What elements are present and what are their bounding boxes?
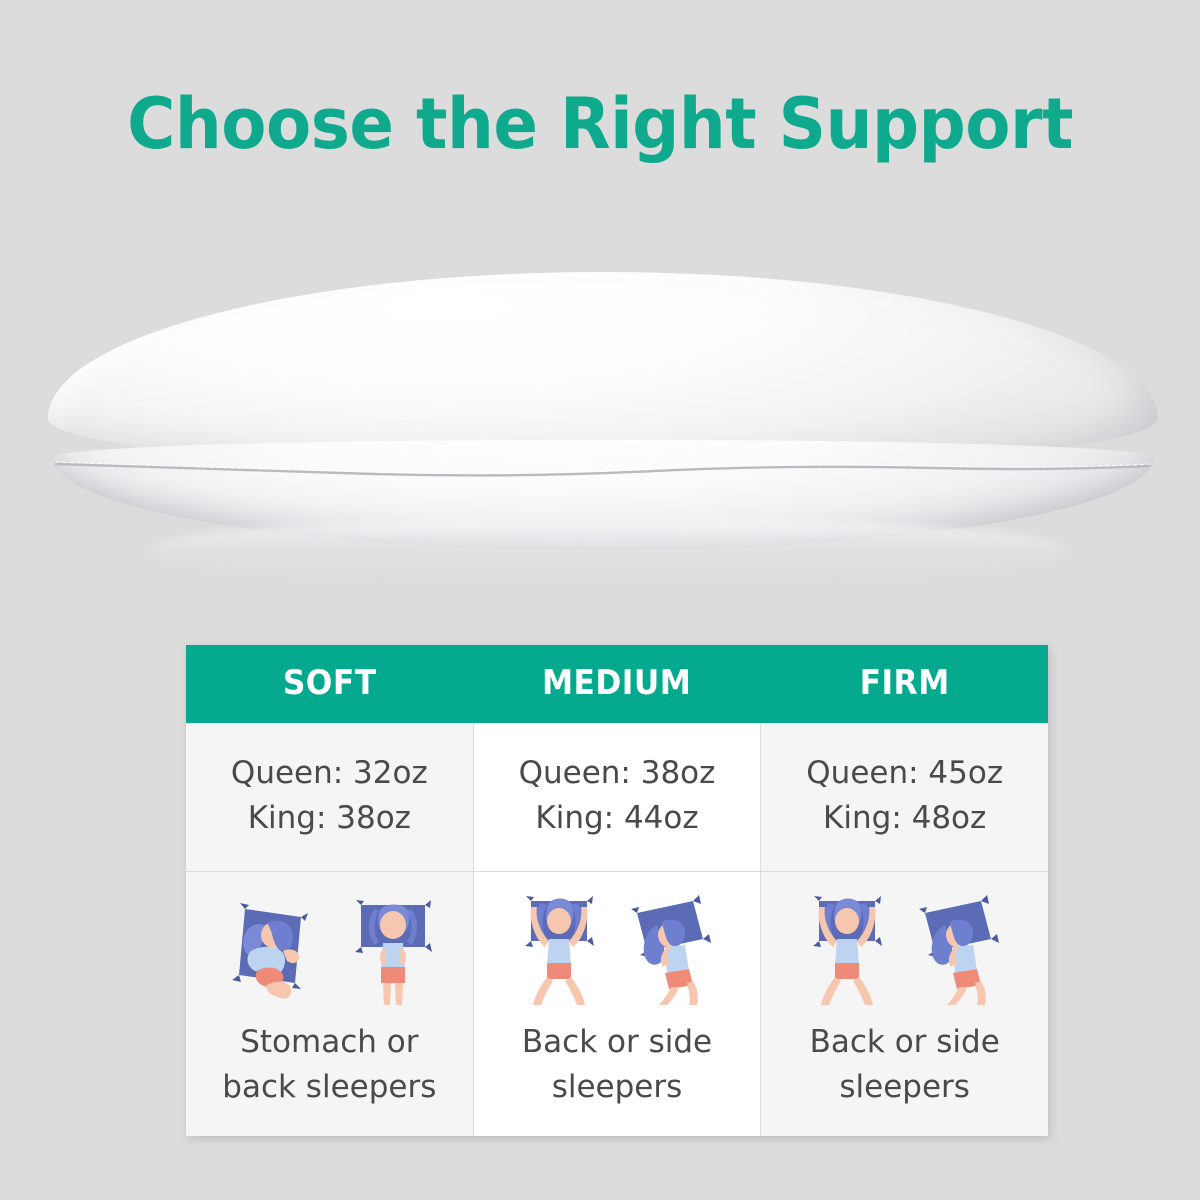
weights-cell-firm: Queen: 45oz King: 48oz — [761, 723, 1048, 872]
page-title: Choose the Right Support — [36, 84, 1164, 164]
column-header-soft: SOFT — [197, 645, 461, 723]
sleeper-label-firm-line2: sleepers — [839, 1069, 970, 1105]
hero-image-area — [0, 250, 1200, 610]
sleeper-label-soft: Stomach or back sleepers — [192, 1020, 467, 1110]
king-weight-medium: King: 44oz — [480, 796, 755, 841]
sleeper-label-firm-line1: Back or side — [810, 1024, 1000, 1060]
weights-cell-medium: Queen: 38oz King: 44oz — [474, 723, 762, 872]
table-row-weights: Queen: 32oz King: 38oz Queen: 38oz King:… — [186, 723, 1048, 872]
sleepers-cell-soft: Stomach or back sleepers — [186, 872, 474, 1136]
stomach-sleeper-icon — [217, 891, 329, 1007]
column-header-firm: FIRM — [772, 645, 1036, 723]
weights-cell-soft: Queen: 32oz King: 38oz — [186, 723, 474, 872]
back-sleeper-icon — [507, 891, 611, 1007]
sleeper-label-soft-line2: back sleepers — [222, 1069, 436, 1105]
queen-weight-soft: Queen: 32oz — [192, 751, 467, 796]
pillow-illustration — [48, 272, 1158, 534]
sleeper-label-medium: Back or side sleepers — [480, 1020, 755, 1110]
side-sleeper-icon — [915, 891, 1015, 1007]
sleeper-label-medium-line2: sleepers — [552, 1069, 683, 1105]
sleeper-label-medium-line1: Back or side — [522, 1024, 712, 1060]
sleepers-cell-medium: Back or side sleepers — [474, 872, 762, 1136]
sleeper-label-firm: Back or side sleepers — [767, 1020, 1042, 1110]
king-weight-soft: King: 38oz — [192, 796, 467, 841]
sleeper-label-soft-line1: Stomach or — [240, 1024, 418, 1060]
sleeper-icons-soft — [192, 888, 467, 1010]
column-header-medium: MEDIUM — [485, 645, 749, 723]
king-weight-firm: King: 48oz — [767, 796, 1042, 841]
back-sleeper-icon — [345, 891, 441, 1007]
sleeper-icons-firm — [767, 888, 1042, 1010]
pillow-seam-stitch — [54, 458, 1152, 480]
queen-weight-firm: Queen: 45oz — [767, 751, 1042, 796]
queen-weight-medium: Queen: 38oz — [480, 751, 755, 796]
support-comparison-table: SOFT MEDIUM FIRM Queen: 32oz King: 38oz … — [186, 645, 1048, 1136]
back-sleeper-icon — [795, 891, 899, 1007]
pillow-reflection — [148, 516, 1068, 588]
side-sleeper-icon — [627, 891, 727, 1007]
table-row-sleepers: Stomach or back sleepers — [186, 872, 1048, 1136]
sleeper-icons-medium — [480, 888, 755, 1010]
table-header-row: SOFT MEDIUM FIRM — [186, 645, 1048, 723]
pillow-top-lobe — [48, 272, 1158, 467]
sleepers-cell-firm: Back or side sleepers — [761, 872, 1048, 1136]
